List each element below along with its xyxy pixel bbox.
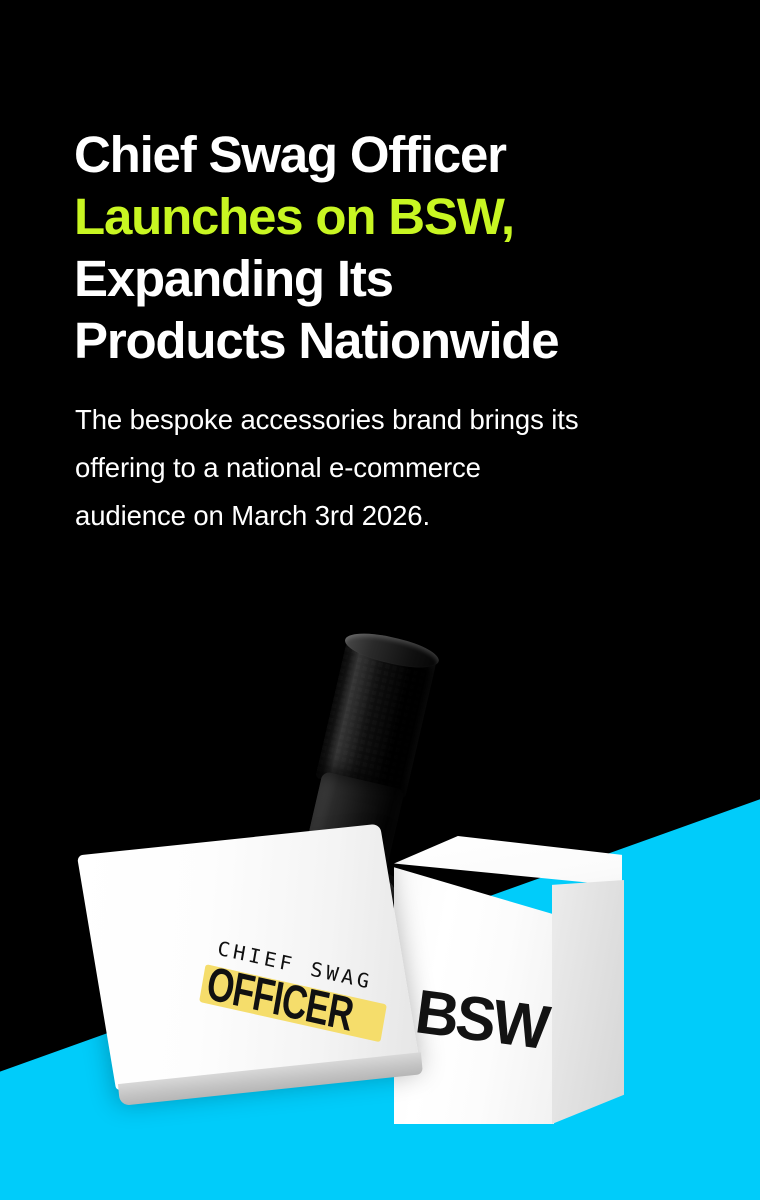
promo-poster: Chief Swag Officer Launches on BSW, Expa… — [0, 0, 760, 1200]
cube-side-face — [552, 880, 624, 1124]
headline-line-3: Expanding Its — [74, 248, 714, 310]
subheading: The bespoke accessories brand brings its… — [75, 396, 700, 540]
headline-line-4: Products Nationwide — [74, 310, 714, 372]
page-title: Chief Swag Officer Launches on BSW, Expa… — [74, 124, 714, 372]
subheading-line-3: audience on March 3rd 2026. — [75, 492, 700, 540]
subheading-line-2: offering to a national e-commerce — [75, 444, 700, 492]
product-cube-bsw: BSW — [394, 836, 622, 1124]
headline-line-1: Chief Swag Officer — [74, 124, 714, 186]
product-box-chief-swag-officer: CHIEF SWAG OFFICER — [77, 824, 419, 1091]
headline-line-2-accent: Launches on BSW, — [74, 186, 714, 248]
subheading-line-1: The bespoke accessories brand brings its — [75, 396, 700, 444]
